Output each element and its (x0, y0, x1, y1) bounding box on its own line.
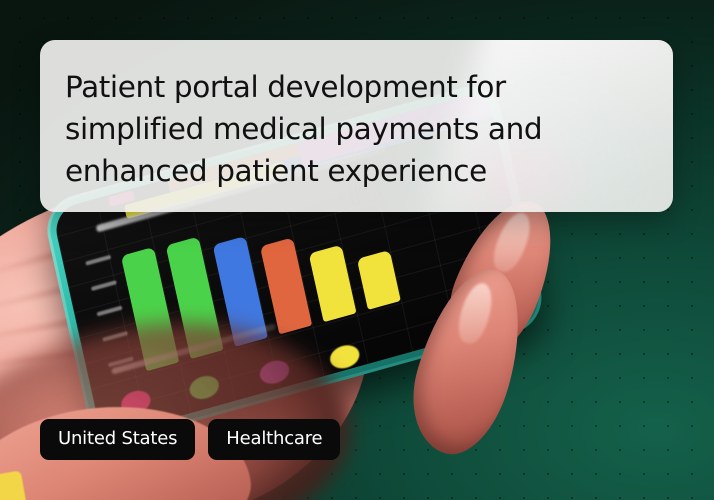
fingernail (488, 208, 537, 276)
screenshot-stage: Patient portal development for simplifie… (0, 0, 714, 500)
title-card: Patient portal development for simplifie… (40, 40, 673, 212)
tag-industry[interactable]: Healthcare (208, 419, 340, 460)
fingernail (453, 280, 497, 347)
tag-list: United States Healthcare (40, 419, 340, 460)
tag-country[interactable]: United States (40, 419, 195, 460)
page-title: Patient portal development for simplifie… (40, 40, 673, 192)
